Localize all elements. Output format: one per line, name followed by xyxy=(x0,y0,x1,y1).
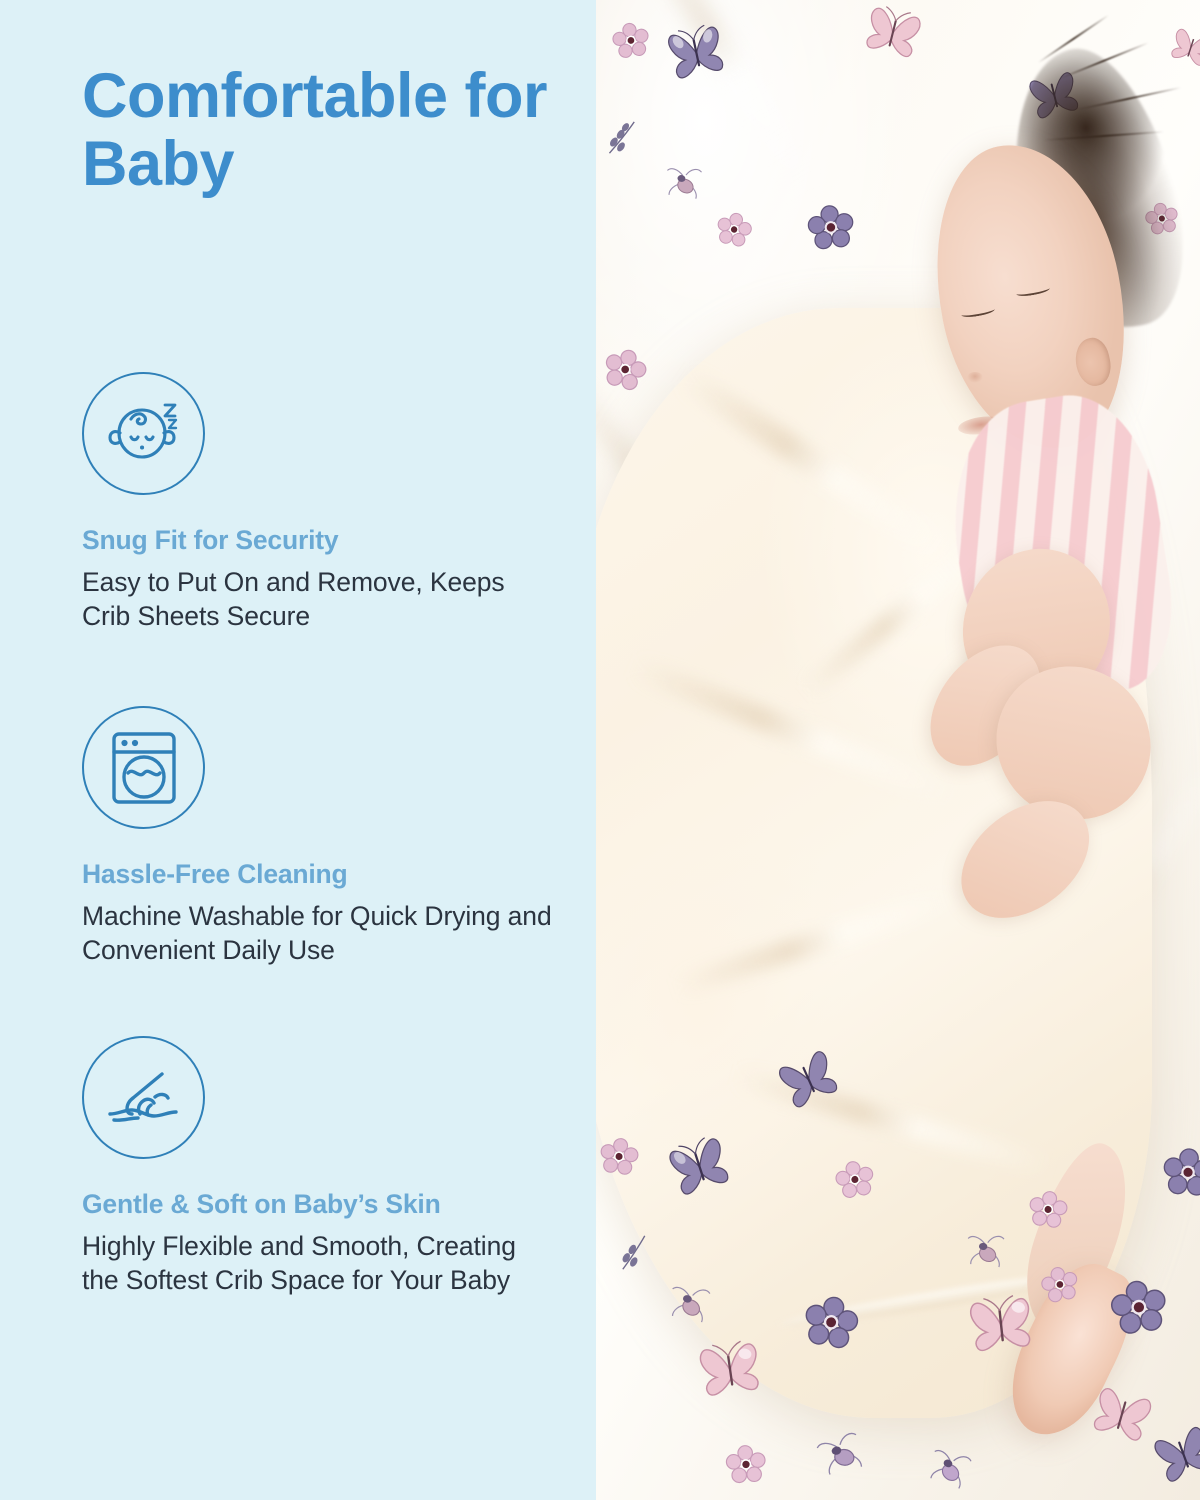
pattern-butterfly-pink xyxy=(956,1284,1047,1363)
washing-machine-icon xyxy=(82,706,205,829)
feature-title: Snug Fit for Security xyxy=(82,526,582,555)
feature-item-softness: Gentle & Soft on Baby’s Skin Highly Flex… xyxy=(82,1036,582,1298)
features-panel: Comfortable for Baby xyxy=(0,0,596,1500)
pattern-flower-pink xyxy=(714,210,754,250)
feature-item-snug-fit: Snug Fit for Security Easy to Put On and… xyxy=(82,372,582,634)
pattern-bug xyxy=(961,1227,1013,1274)
feature-title: Gentle & Soft on Baby’s Skin xyxy=(82,1190,582,1219)
pattern-flower-purple xyxy=(801,1293,861,1353)
pattern-butterfly-pink xyxy=(685,1329,774,1407)
feature-description: Easy to Put On and Remove, Keeps Crib Sh… xyxy=(82,566,552,634)
pattern-flower-pink xyxy=(833,1158,876,1201)
feature-item-cleaning: Hassle-Free Cleaning Machine Washable fo… xyxy=(82,706,582,968)
product-feature-page: Comfortable for Baby xyxy=(0,0,1200,1500)
pattern-flower-purple xyxy=(1162,1147,1200,1199)
pattern-bug xyxy=(660,159,711,205)
pattern-flower-pink xyxy=(1027,1188,1069,1230)
pattern-flower-pink xyxy=(1039,1263,1081,1305)
product-lifestyle-photo xyxy=(596,0,1200,1500)
pattern-flower-purple xyxy=(807,203,856,252)
feature-title: Hassle-Free Cleaning xyxy=(82,860,582,889)
pattern-flower-purple xyxy=(1109,1278,1170,1339)
sleeping-baby-icon xyxy=(82,372,205,495)
pattern-flower-pink xyxy=(611,21,651,61)
hand-touching-fabric-icon xyxy=(82,1036,205,1159)
feature-description: Machine Washable for Quick Drying and Co… xyxy=(82,900,552,968)
page-title: Comfortable for Baby xyxy=(82,62,552,198)
pattern-flower-pink xyxy=(725,1444,767,1486)
pattern-flower-pink xyxy=(598,1136,640,1178)
feature-description: Highly Flexible and Smooth, Creating the… xyxy=(82,1230,552,1298)
